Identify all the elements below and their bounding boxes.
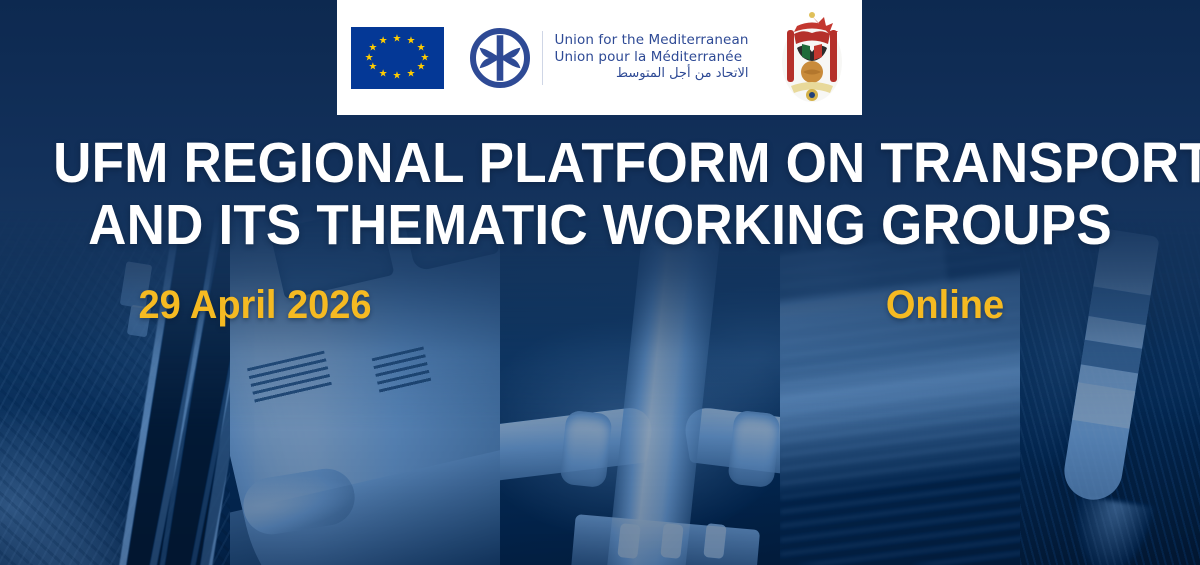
eu-star-icon: ★ [417, 62, 426, 71]
event-banner: ★★★★★★★★★★★★ Union for the Mediterranean… [0, 0, 1200, 565]
logo-divider [542, 31, 543, 85]
title-line-1: UfM REGIONAL PLATFORM ON TRANSPORT CONNE… [53, 132, 1147, 194]
eu-star-icon: ★ [379, 37, 388, 46]
event-meta: 29 April 2026 Online [0, 282, 1200, 328]
eu-flag-icon: ★★★★★★★★★★★★ [351, 27, 444, 89]
eu-star-icon: ★ [393, 72, 402, 81]
eu-star-icon: ★ [406, 37, 415, 46]
page-title: UfM REGIONAL PLATFORM ON TRANSPORT CONNE… [0, 132, 1200, 256]
eu-star-icon: ★ [379, 69, 388, 78]
title-line-2: AND ITS THEMATIC WORKING GROUPS [53, 194, 1147, 256]
eu-star-icon: ★ [368, 44, 377, 53]
ufm-name-arabic: الاتحاد من أجل المتوسط [555, 66, 749, 82]
logo-banner: ★★★★★★★★★★★★ Union for the Mediterranean… [337, 0, 862, 115]
eu-stars-circle: ★★★★★★★★★★★★ [351, 27, 444, 89]
event-format: Online [727, 282, 1164, 328]
transport-photo-collage [0, 210, 1200, 565]
event-date: 29 April 2026 [37, 282, 474, 328]
eu-star-icon: ★ [368, 62, 377, 71]
ufm-emblem-icon [470, 28, 530, 88]
collage-tint-overlay [0, 210, 1200, 565]
eu-star-icon: ★ [393, 34, 402, 43]
eu-star-icon: ★ [365, 53, 374, 62]
eu-star-icon: ★ [406, 69, 415, 78]
ufm-name-french: Union pour la Méditerranée [555, 49, 749, 66]
ufm-name-english: Union for the Mediterranean [555, 32, 749, 49]
ufm-wordmark: Union for the Mediterranean Union pour l… [555, 32, 749, 82]
jordan-coat-of-arms-icon [775, 10, 849, 106]
ufm-logo: Union for the Mediterranean Union pour l… [470, 28, 749, 88]
